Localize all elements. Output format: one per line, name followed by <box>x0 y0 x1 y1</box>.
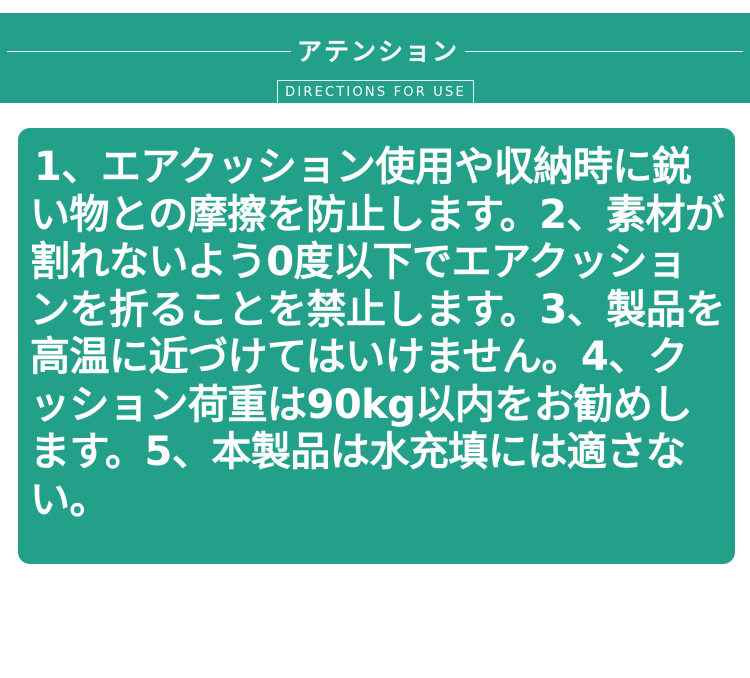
page-title: アテンション <box>297 39 459 64</box>
header-band: アテンション DIRECTIONS FOR USE <box>0 13 750 103</box>
directions-for-use-page: アテンション DIRECTIONS FOR USE 1、エアクッション使用や収納… <box>0 0 750 678</box>
title-rule-right <box>465 51 743 52</box>
notice-body-text: 1、エアクッション使用や収納時に鋭い物との摩擦を防止します。2、素材が割れないよ… <box>30 144 725 524</box>
title-rule-left <box>7 51 291 52</box>
subtitle-box: DIRECTIONS FOR USE <box>277 80 474 104</box>
header-title-row: アテンション <box>0 31 750 71</box>
page-subtitle: DIRECTIONS FOR USE <box>285 86 466 99</box>
notice-panel: 1、エアクッション使用や収納時に鋭い物との摩擦を防止します。2、素材が割れないよ… <box>18 128 735 564</box>
